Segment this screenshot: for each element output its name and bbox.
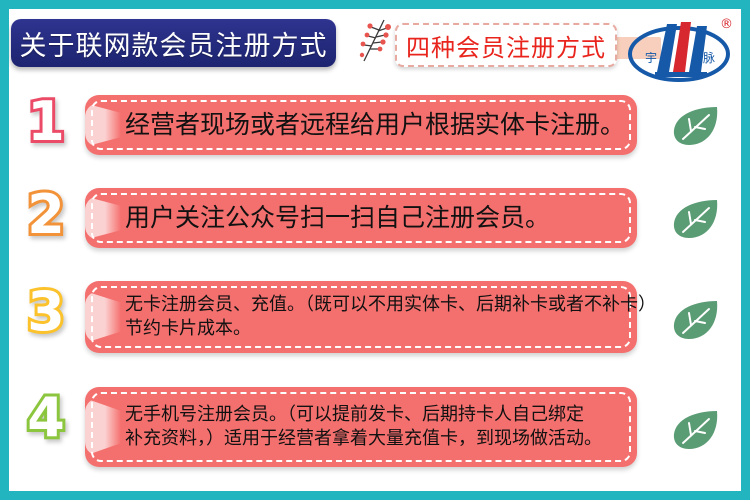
yumai-logo-icon: 宇 脉 ® <box>621 10 741 88</box>
page-subtitle: 四种会员注册方式 <box>406 28 606 63</box>
item-text-box-2: 用户关注公众号扫一扫自己注册会员。 <box>85 188 637 248</box>
subtitle-badge: 四种会员注册方式 <box>395 23 617 67</box>
plum-branch-icon <box>354 17 394 65</box>
item-number-3: 3 <box>15 281 77 343</box>
leaf-icon <box>669 293 723 347</box>
ribbon-tab-icon <box>85 103 121 146</box>
page-canvas: 关于联网款会员注册方式 四种会员注册方 <box>9 9 741 491</box>
item-number-1: 1 <box>15 91 77 153</box>
item-text-line: 节约卡片成本。 <box>125 317 613 341</box>
leaf-icon <box>669 192 723 246</box>
item-text-line: 用户关注公众号扫一扫自己注册会员。 <box>125 201 613 235</box>
item-text-line: 经营者现场或者远程给用户根据实体卡注册。 <box>125 108 613 142</box>
ribbon-tab-icon <box>85 196 121 239</box>
ribbon-tab-icon <box>85 291 121 343</box>
item-text-line: 无手机号注册会员。（可以提前发卡、后期持卡人自己绑定 <box>125 403 613 427</box>
item-text-1: 经营者现场或者远程给用户根据实体卡注册。 <box>125 95 613 155</box>
item-text-3: 无卡注册会员、充值。（既可以不用实体卡、后期补卡或者不补卡） 节约卡片成本。 <box>125 281 613 353</box>
item-text-2: 用户关注公众号扫一扫自己注册会员。 <box>125 188 613 248</box>
leaf-icon <box>669 99 723 153</box>
item-text-line: 无卡注册会员、充值。（既可以不用实体卡、后期补卡或者不补卡） <box>125 293 613 317</box>
item-text-4: 无手机号注册会员。（可以提前发卡、后期持卡人自己绑定 补充资料，）适用于经营者拿… <box>125 387 613 467</box>
item-text-box-3: 无卡注册会员、充值。（既可以不用实体卡、后期补卡或者不补卡） 节约卡片成本。 <box>85 281 637 353</box>
page-title: 关于联网款会员注册方式 <box>20 24 328 63</box>
header: 关于联网款会员注册方式 四种会员注册方 <box>9 9 741 89</box>
item-number-4: 4 <box>15 387 77 449</box>
logo-left-char: 宇 <box>645 51 657 65</box>
item-text-line: 补充资料，）适用于经营者拿着大量充值卡，到现场做活动。 <box>125 427 613 451</box>
trademark-symbol: ® <box>720 17 733 32</box>
logo-right-char: 脉 <box>703 50 715 65</box>
page-title-badge: 关于联网款会员注册方式 <box>11 19 336 67</box>
item-number-2: 2 <box>15 184 77 246</box>
item-text-box-1: 经营者现场或者远程给用户根据实体卡注册。 <box>85 95 637 155</box>
item-text-box-4: 无手机号注册会员。（可以提前发卡、后期持卡人自己绑定 补充资料，）适用于经营者拿… <box>85 387 637 467</box>
ribbon-tab-icon <box>85 398 121 456</box>
leaf-icon <box>669 403 723 457</box>
page-frame: 关于联网款会员注册方式 四种会员注册方 <box>0 0 750 500</box>
